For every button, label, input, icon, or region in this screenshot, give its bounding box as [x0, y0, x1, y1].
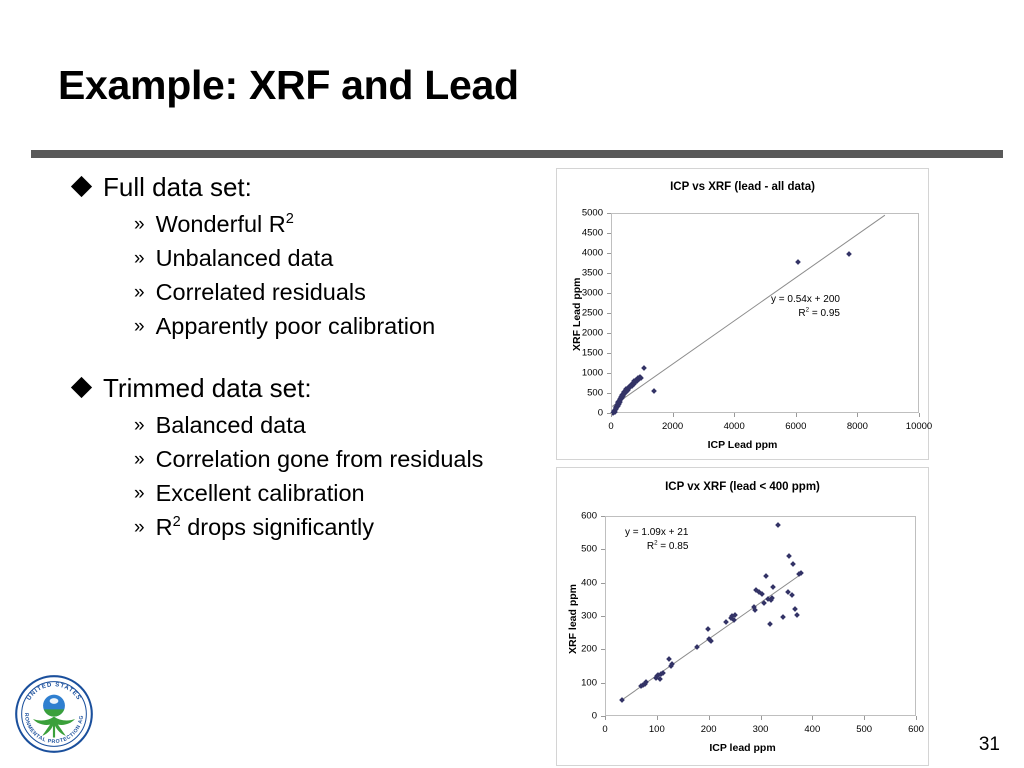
- y-axis-tick-mark: [601, 516, 605, 517]
- x-axis-tick-mark: [919, 413, 920, 417]
- data-point: [794, 612, 800, 618]
- x-axis-tick-mark: [916, 716, 917, 720]
- y-axis-tick-label: 600: [557, 511, 597, 522]
- x-axis-label: ICP lead ppm: [557, 742, 928, 754]
- x-axis-tick-mark: [611, 413, 612, 417]
- y-axis-tick-label: 100: [557, 677, 597, 688]
- bullet-level2: »R2 drops significantly: [134, 514, 544, 541]
- y-axis-tick-mark: [607, 333, 611, 334]
- y-axis-tick-label: 500: [557, 544, 597, 555]
- x-axis-tick-label: 600: [908, 724, 924, 735]
- chevron-bullet-icon: »: [134, 245, 145, 272]
- chart-title: ICP vx XRF (lead < 400 ppm): [557, 481, 928, 493]
- bullet-level2-label: Correlated residuals: [156, 279, 366, 306]
- y-axis-tick-mark: [607, 233, 611, 234]
- y-axis-tick-mark: [607, 393, 611, 394]
- x-axis-tick-mark: [673, 413, 674, 417]
- trendline: [612, 215, 885, 407]
- data-point: [657, 676, 663, 682]
- y-axis-tick-mark: [607, 373, 611, 374]
- bullet-group-spacer: [74, 347, 544, 373]
- data-point: [787, 553, 793, 559]
- bullet-level1: Full data set:: [74, 172, 544, 202]
- data-point: [651, 388, 657, 394]
- x-axis-tick-label: 200: [701, 724, 717, 735]
- data-point: [792, 606, 798, 612]
- chevron-bullet-icon: »: [134, 446, 145, 473]
- x-axis-tick-label: 6000: [785, 421, 806, 432]
- bullet-level1-label: Full data set:: [103, 172, 252, 202]
- x-axis-tick-label: 10000: [906, 421, 932, 432]
- data-point: [752, 607, 758, 613]
- y-axis-label: XRF lead ppm: [567, 584, 579, 654]
- fit-r-squared: R2 = 0.85: [625, 540, 688, 554]
- x-axis-tick-mark: [812, 716, 813, 720]
- y-axis-tick-mark: [601, 616, 605, 617]
- x-axis-label: ICP Lead ppm: [557, 439, 928, 451]
- x-axis-tick-mark: [796, 413, 797, 417]
- y-axis-tick-mark: [601, 583, 605, 584]
- chevron-bullet-icon: »: [134, 514, 145, 541]
- x-axis-tick-label: 4000: [724, 421, 745, 432]
- chevron-bullet-icon: »: [134, 313, 145, 340]
- x-axis-tick-label: 500: [856, 724, 872, 735]
- bullet-list: Full data set:»Wonderful R2»Unbalanced d…: [74, 172, 544, 548]
- x-axis-tick-mark: [657, 716, 658, 720]
- y-axis-tick-mark: [601, 549, 605, 550]
- x-axis-tick-mark: [734, 413, 735, 417]
- data-point: [705, 626, 711, 632]
- chart-icp-vx-xrf-under-400: ICP vx XRF (lead < 400 ppm) 010020030040…: [556, 467, 929, 766]
- data-point: [846, 252, 852, 258]
- y-axis-tick-mark: [607, 313, 611, 314]
- x-axis-tick-label: 300: [753, 724, 769, 735]
- x-axis-tick-mark: [857, 413, 858, 417]
- chevron-bullet-icon: »: [134, 279, 145, 306]
- x-axis-tick-label: 0: [608, 421, 613, 432]
- y-axis-tick-label: 4000: [557, 248, 603, 259]
- chevron-bullet-icon: »: [134, 412, 145, 439]
- bullet-level2: »Excellent calibration: [134, 480, 544, 507]
- fit-r-squared: R2 = 0.95: [771, 307, 840, 321]
- x-axis-tick-mark: [605, 716, 606, 720]
- bullet-level2: »Unbalanced data: [134, 245, 544, 272]
- regression-annotation: y = 0.54x + 200R2 = 0.95: [771, 293, 840, 321]
- diamond-bullet-icon: [71, 377, 92, 398]
- data-point: [641, 365, 647, 371]
- regression-annotation: y = 1.09x + 21R2 = 0.85: [625, 526, 688, 554]
- data-point: [799, 570, 805, 576]
- epa-seal-logo: UNITED STATES ENVIRONMENTAL PROTECTION A…: [12, 672, 96, 756]
- chart-title: ICP vs XRF (lead - all data): [557, 181, 928, 193]
- bullet-level2-label: R2 drops significantly: [156, 514, 374, 541]
- data-point: [780, 614, 786, 620]
- chart-icp-vs-xrf-all-data: ICP vs XRF (lead - all data) 05001000150…: [556, 168, 929, 460]
- fit-equation: y = 0.54x + 200: [771, 293, 840, 307]
- y-axis-tick-label: 0: [557, 408, 603, 419]
- bullet-level1: Trimmed data set:: [74, 373, 544, 403]
- fit-equation: y = 1.09x + 21: [625, 526, 688, 540]
- data-point: [761, 600, 767, 606]
- data-point: [789, 592, 795, 598]
- data-point: [759, 591, 765, 597]
- data-point: [638, 375, 644, 381]
- data-point: [795, 260, 801, 266]
- y-axis-tick-label: 1000: [557, 368, 603, 379]
- bullet-group: Full data set:»Wonderful R2»Unbalanced d…: [74, 172, 544, 340]
- x-axis-tick-label: 8000: [847, 421, 868, 432]
- x-axis-tick-label: 400: [804, 724, 820, 735]
- data-point: [770, 584, 776, 590]
- bullet-level2: »Correlated residuals: [134, 279, 544, 306]
- title-divider: [31, 150, 1003, 158]
- bullet-level2: »Wonderful R2: [134, 211, 544, 238]
- data-point: [767, 621, 773, 627]
- diamond-bullet-icon: [71, 176, 92, 197]
- x-axis-tick-mark: [761, 716, 762, 720]
- chevron-bullet-icon: »: [134, 480, 145, 507]
- y-axis-tick-mark: [607, 273, 611, 274]
- bullet-level2-label: Correlation gone from residuals: [156, 446, 484, 473]
- chevron-bullet-icon: »: [134, 211, 145, 238]
- bullet-level2-label: Excellent calibration: [156, 480, 365, 507]
- bullet-level2-label: Wonderful R2: [156, 211, 294, 238]
- y-axis-tick-mark: [607, 253, 611, 254]
- page-title: Example: XRF and Lead: [58, 62, 519, 109]
- page-number: 31: [979, 734, 1000, 756]
- y-axis-tick-label: 5000: [557, 208, 603, 219]
- bullet-level2: »Balanced data: [134, 412, 544, 439]
- data-point: [763, 573, 769, 579]
- x-axis-tick-label: 0: [602, 724, 607, 735]
- x-axis-tick-label: 100: [649, 724, 665, 735]
- y-axis-tick-label: 4500: [557, 228, 603, 239]
- y-axis-tick-mark: [601, 683, 605, 684]
- data-point: [775, 522, 781, 528]
- bullet-level2-label: Balanced data: [156, 412, 306, 439]
- data-point: [790, 561, 796, 567]
- bullet-group: Trimmed data set:»Balanced data»Correlat…: [74, 373, 544, 541]
- y-axis-tick-mark: [607, 293, 611, 294]
- x-axis-tick-label: 2000: [662, 421, 683, 432]
- y-axis-tick-label: 0: [557, 711, 597, 722]
- plot-area: [611, 213, 919, 413]
- y-axis-label: XRF Lead ppm: [571, 277, 583, 351]
- y-axis-tick-label: 500: [557, 388, 603, 399]
- y-axis-tick-mark: [601, 649, 605, 650]
- y-axis-tick-mark: [607, 213, 611, 214]
- y-axis-tick-mark: [607, 353, 611, 354]
- bullet-level2: »Correlation gone from residuals: [134, 446, 544, 473]
- x-axis-tick-mark: [709, 716, 710, 720]
- bullet-level1-label: Trimmed data set:: [103, 373, 312, 403]
- bullet-level2-label: Unbalanced data: [156, 245, 334, 272]
- data-point: [708, 638, 714, 644]
- bullet-level2-label: Apparently poor calibration: [156, 313, 436, 340]
- x-axis-tick-mark: [864, 716, 865, 720]
- bullet-level2: »Apparently poor calibration: [134, 313, 544, 340]
